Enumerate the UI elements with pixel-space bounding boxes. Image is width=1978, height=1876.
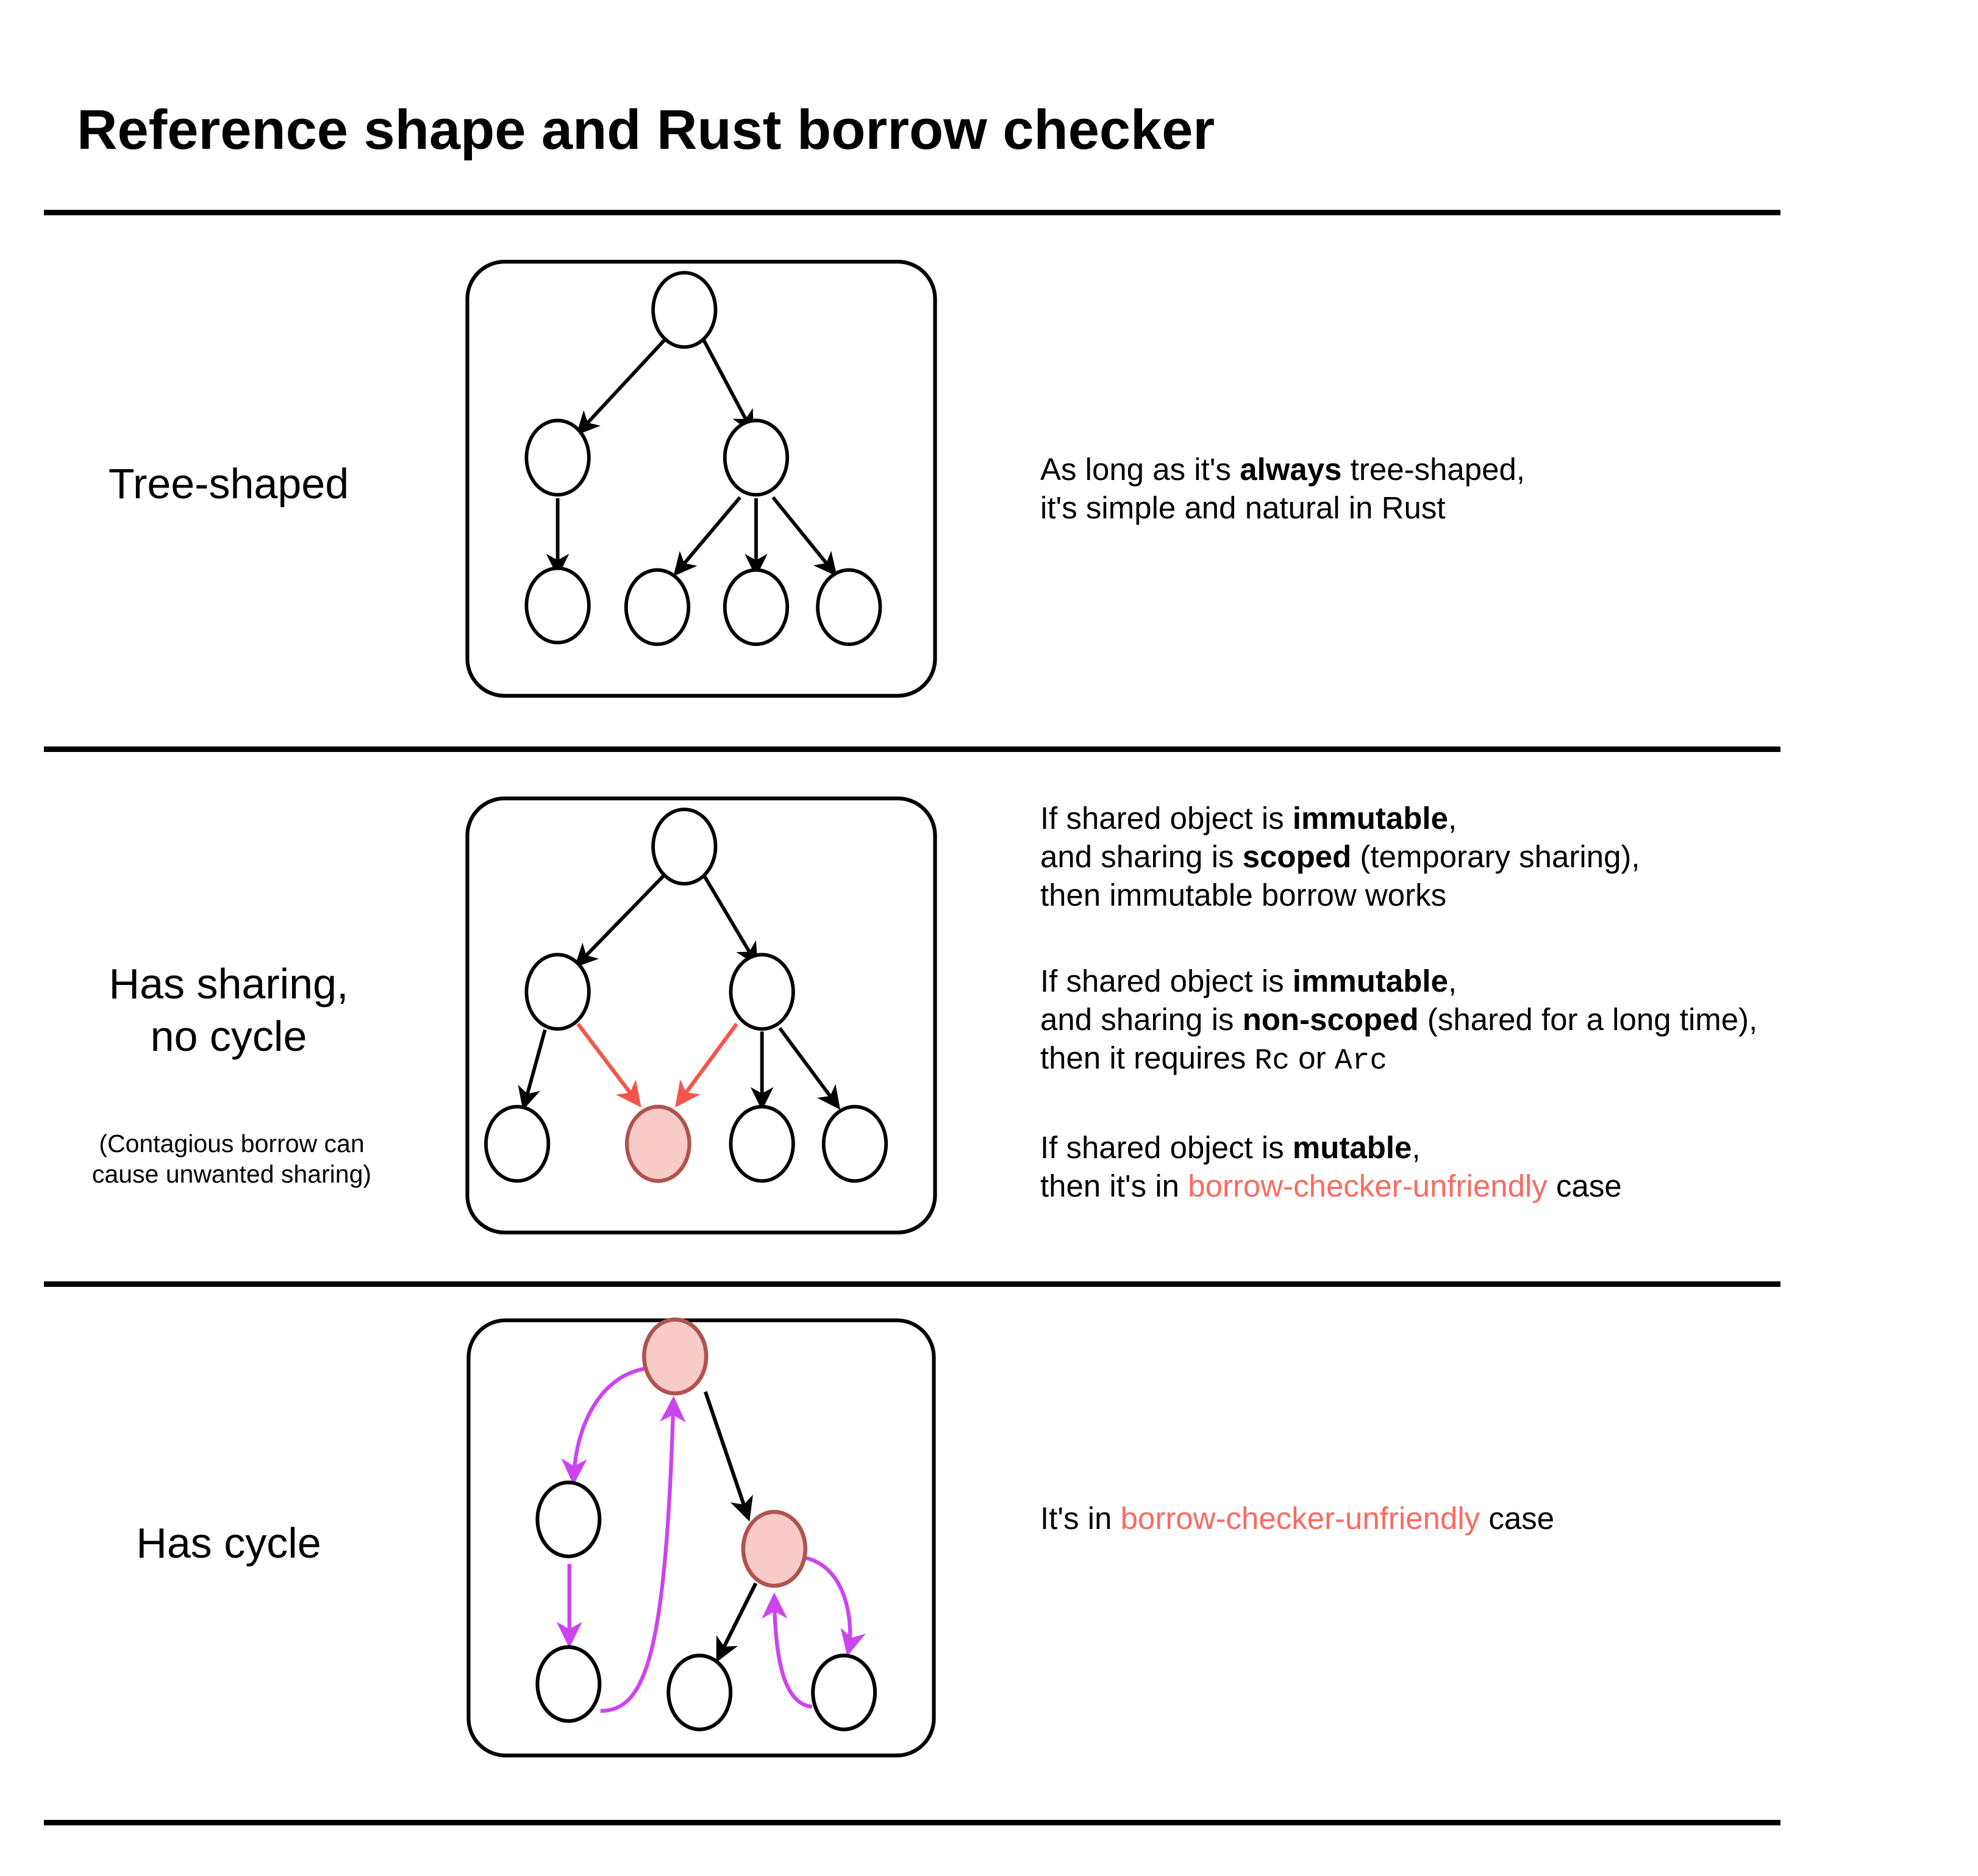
edge-leaf3-to-b (774, 1597, 812, 1706)
note-line: If shared object is immutable, (1040, 799, 1757, 837)
note-block: If shared object is immutable, and shari… (1040, 962, 1757, 1081)
notes-tree-shaped: As long as it's always tree-shaped, it's… (1040, 450, 1525, 527)
code-arc: Arc (1335, 1045, 1387, 1078)
note-line: then it's in borrow-checker-unfriendly c… (1040, 1167, 1757, 1205)
divider-after-row-2 (44, 1281, 1780, 1287)
tree-edges (558, 337, 835, 573)
node-leaf1 (486, 1107, 548, 1181)
edge-root-to-a (577, 873, 665, 965)
note-block: It's in borrow-checker-unfriendly case (1040, 1499, 1554, 1538)
notes-has-sharing-no-cycle: If shared object is immutable, and shari… (1040, 799, 1757, 1205)
note-block: If shared object is mutable, then it's i… (1040, 1128, 1757, 1205)
node-leaf2 (668, 1655, 730, 1729)
tree-nodes (526, 273, 880, 644)
node-e (725, 570, 787, 645)
edge-root-to-a (579, 337, 667, 432)
note-block: As long as it's always tree-shaped, it's… (1040, 450, 1525, 527)
node-leaf3 (730, 1107, 793, 1181)
note-line: and sharing is scoped (temporary sharing… (1040, 837, 1757, 876)
node-leaf1 (537, 1647, 599, 1721)
notes-has-cycle: It's in borrow-checker-unfriendly case (1040, 1499, 1554, 1538)
tree-nodes (537, 1320, 875, 1730)
diagram-page: Reference shape and Rust borrow checker … (0, 0, 1978, 1876)
divider-after-row-1 (44, 746, 1780, 752)
note-line: and sharing is non-scoped (shared for a … (1040, 1000, 1757, 1039)
note-line: then it requires Rc or Arc (1040, 1039, 1757, 1081)
edge-b-to-f (773, 497, 835, 573)
note-line: It's in borrow-checker-unfriendly case (1040, 1499, 1554, 1538)
divider-top (44, 210, 1780, 215)
node-c (526, 568, 588, 643)
row-label-has-cycle: Has cycle (37, 1517, 421, 1569)
note-line: As long as it's always tree-shaped, (1040, 450, 1525, 489)
edge-root-to-a (574, 1368, 648, 1481)
note-line: then immutable borrow works (1040, 876, 1757, 914)
unfriendly-tag: borrow-checker-unfriendly (1188, 1169, 1548, 1203)
row-sublabel-contagious-borrow: (Contagious borrow can cause unwanted sh… (37, 1128, 427, 1189)
node-leaf4 (824, 1107, 886, 1181)
edge-leaf1-to-root (601, 1400, 674, 1711)
edge-root-to-b (702, 337, 752, 431)
diagram-has-sharing-no-cycle (427, 796, 976, 1235)
tree-nodes (486, 809, 886, 1181)
row-label-has-sharing-no-cycle: Has sharing, no cycle (37, 958, 421, 1062)
edge-a-to-shared (578, 1024, 639, 1104)
edge-b-to-leaf2 (718, 1583, 756, 1659)
node-a (526, 954, 588, 1029)
divider-bottom (44, 1820, 1780, 1825)
edge-b-to-leaf4 (780, 1028, 838, 1107)
note-line: it's simple and natural in Rust (1040, 489, 1525, 527)
edge-b-to-shared (677, 1024, 737, 1104)
node-a (537, 1483, 599, 1556)
edge-b-to-leaf3 (806, 1558, 850, 1652)
note-block: If shared object is immutable, and shari… (1040, 799, 1757, 914)
node-b (730, 954, 793, 1029)
node-shared (627, 1107, 689, 1181)
note-line: If shared object is mutable, (1040, 1128, 1757, 1167)
edge-root-to-b (705, 1392, 748, 1518)
diagram-tree-shaped (427, 259, 976, 698)
node-b-shared (743, 1512, 805, 1586)
edge-b-to-d (676, 497, 740, 573)
row-label-tree-shaped: Tree-shaped (37, 457, 421, 510)
node-root-shared (644, 1320, 706, 1394)
sharing-edges (578, 1024, 737, 1104)
node-d (626, 570, 688, 645)
code-rc: Rc (1255, 1045, 1290, 1078)
node-root (653, 273, 715, 347)
node-b (725, 420, 787, 495)
node-leaf3 (813, 1655, 875, 1729)
note-line: If shared object is immutable, (1040, 962, 1757, 1000)
edge-a-to-leaf1 (524, 1030, 545, 1107)
node-a (526, 420, 588, 495)
page-title: Reference shape and Rust borrow checker (77, 96, 1215, 163)
node-f (818, 570, 880, 645)
node-root (653, 809, 715, 884)
edge-root-to-b (703, 873, 756, 963)
diagram-has-cycle (427, 1316, 976, 1761)
unfriendly-tag: borrow-checker-unfriendly (1121, 1501, 1480, 1536)
